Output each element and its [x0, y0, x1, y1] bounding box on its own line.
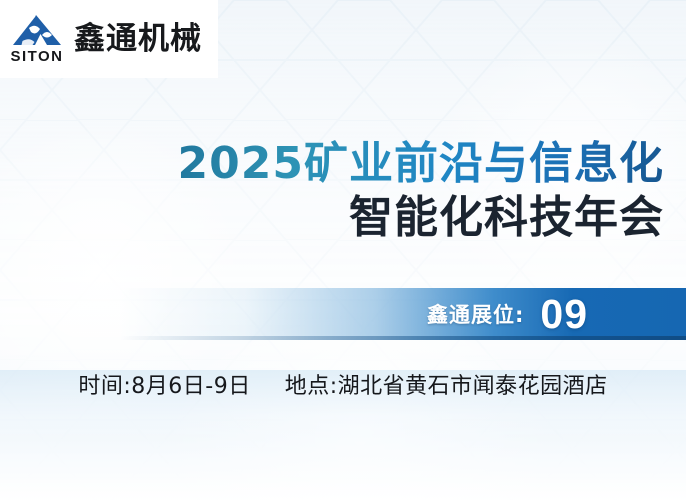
headline-block: 2025矿业前沿与信息化 智能化科技年会	[24, 140, 664, 243]
logo-chinese-name: 鑫通机械	[74, 24, 202, 55]
light-bloom-bottom	[150, 320, 570, 500]
company-logo: SITON 鑫通机械	[0, 0, 218, 78]
event-info-row: 时间:8月6日-9日 地点:湖北省黄石市闻泰花园酒店	[0, 368, 686, 400]
event-time: 时间:8月6日-9日	[78, 368, 250, 400]
event-location: 地点:湖北省黄石市闻泰花园酒店	[285, 368, 608, 400]
booth-number: 09	[540, 294, 588, 335]
logo-latin-name: SITON	[10, 49, 63, 64]
headline-line-1: 2025矿业前沿与信息化	[24, 140, 664, 188]
booth-banner: 鑫通展位: 09	[120, 288, 686, 340]
booth-label: 鑫通展位:	[427, 299, 524, 329]
conference-poster: SITON 鑫通机械 2025矿业前沿与信息化 智能化科技年会 鑫通展位: 09…	[0, 0, 686, 500]
mountain-peak-icon: SITON	[6, 10, 68, 68]
headline-line-2: 智能化科技年会	[24, 192, 664, 244]
